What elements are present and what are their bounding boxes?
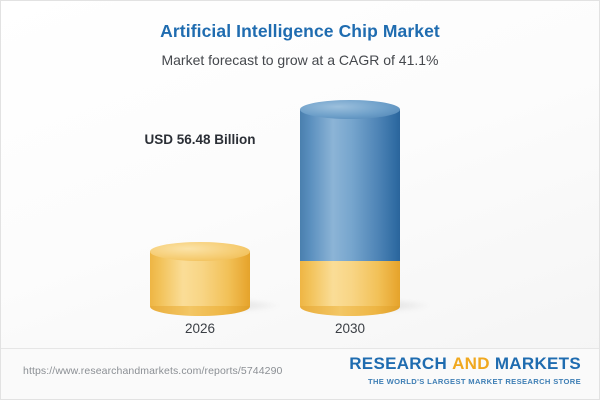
bar-value-label-2026: USD 56.48 Billion bbox=[100, 132, 300, 147]
chart-header: Artificial Intelligence Chip Market Mark… bbox=[1, 21, 599, 68]
cylinder-top-ellipse bbox=[150, 242, 250, 261]
logo-wordmark: RESEARCH AND MARKETS bbox=[349, 355, 581, 374]
logo-word-markets: MARKETS bbox=[495, 354, 581, 373]
chart-plot-area: USD 56.48 Billion 2026 USD 223.95 Billio… bbox=[1, 81, 599, 343]
brand-logo[interactable]: RESEARCH AND MARKETS THE WORLD'S LARGEST… bbox=[349, 355, 581, 386]
bar-cylinder-2026 bbox=[150, 251, 250, 306]
cylinder-body bbox=[300, 109, 400, 261]
logo-word-research: RESEARCH bbox=[349, 354, 447, 373]
bar-cylinder-2030 bbox=[300, 109, 400, 306]
category-label-2030: 2030 bbox=[275, 321, 425, 343]
cylinder-top-ellipse bbox=[300, 100, 400, 119]
logo-tagline: THE WORLD'S LARGEST MARKET RESEARCH STOR… bbox=[349, 377, 581, 386]
footer: https://www.researchandmarkets.com/repor… bbox=[1, 349, 599, 399]
bar-segment-base-2030 bbox=[300, 261, 400, 306]
chart-subtitle: Market forecast to grow at a CAGR of 41.… bbox=[1, 52, 599, 68]
category-label-2026: 2026 bbox=[125, 321, 275, 343]
bar-segment-growth-2030 bbox=[300, 109, 400, 261]
bar-group-2030[interactable]: USD 223.95 Billion 2030 bbox=[275, 93, 425, 343]
source-url-link[interactable]: https://www.researchandmarkets.com/repor… bbox=[23, 365, 282, 377]
bar-segment-base-2026 bbox=[150, 251, 250, 306]
bar-group-2026[interactable]: USD 56.48 Billion 2026 bbox=[125, 93, 275, 343]
cylinder-body bbox=[300, 261, 400, 306]
chart-title: Artificial Intelligence Chip Market bbox=[1, 21, 599, 42]
infographic-card: Artificial Intelligence Chip Market Mark… bbox=[0, 0, 600, 400]
logo-word-and: AND bbox=[452, 354, 490, 373]
